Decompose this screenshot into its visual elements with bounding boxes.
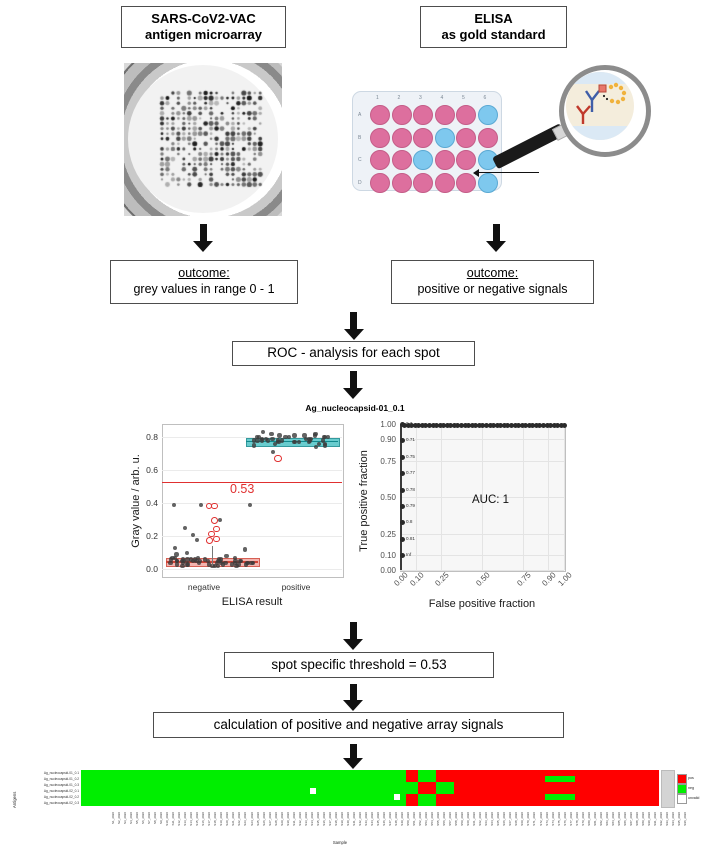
scatter-ytick: 0.2 bbox=[134, 531, 158, 541]
scatter-boxplot-panel: Gray value / arb. u. 0.53 0.00.20.40.60.… bbox=[118, 416, 350, 618]
outcome-box-elisa-text: positive or negative signals bbox=[417, 282, 567, 298]
heatmap-column-label: S59_2020 bbox=[460, 812, 464, 838]
heatmap-row-label: Ag_nucleocapsid-02_0.3 bbox=[24, 801, 79, 805]
scatter-point bbox=[223, 561, 227, 565]
heatmap-column-label: S68_2020 bbox=[514, 812, 518, 838]
roc-ytick: 0.00 bbox=[370, 566, 396, 575]
heatmap-column-label: S62_2020 bbox=[478, 812, 482, 838]
heatmap-column-label: S56_2020 bbox=[442, 812, 446, 838]
elisa-well-C5[interactable] bbox=[456, 150, 476, 170]
magnifier-pointer-head bbox=[473, 169, 479, 177]
heatmap-column-label: S76_2020 bbox=[563, 812, 567, 838]
heatmap-column-label: S77_2020 bbox=[569, 812, 573, 838]
roc-cutoff-label: Inf bbox=[406, 552, 411, 557]
heatmap-column-label: S4_2020 bbox=[129, 812, 133, 838]
heatmap-column-label: S40_2020 bbox=[346, 812, 350, 838]
roc-gridline-v bbox=[564, 424, 565, 570]
roc-cutoff-label: 0.79 bbox=[406, 503, 415, 508]
scatter-ytick: 0.4 bbox=[134, 498, 158, 508]
scatter-point bbox=[195, 538, 199, 542]
heatmap-column-label: S84_2020 bbox=[611, 812, 615, 838]
scatter-point bbox=[313, 433, 317, 437]
elisa-well-A2[interactable] bbox=[392, 105, 412, 125]
roc-cutoff-label: 0.77 bbox=[406, 470, 415, 475]
legend-swatch-neg bbox=[677, 784, 687, 794]
heatmap-column-label: S23_2020 bbox=[243, 812, 247, 838]
scatter-point bbox=[270, 437, 274, 441]
heatmap-column-label: S9_2020 bbox=[159, 812, 163, 838]
calculation-box-text: calculation of positive and negative arr… bbox=[214, 717, 504, 734]
legend-swatch-unvalid bbox=[677, 794, 687, 804]
scatter-point bbox=[283, 435, 287, 439]
elisa-well-C2[interactable] bbox=[392, 150, 412, 170]
heatmap-column-label: S45_2020 bbox=[376, 812, 380, 838]
heatmap-column-label: S69_2020 bbox=[520, 812, 524, 838]
title-box-microarray-line1: SARS-CoV2-VAC bbox=[151, 11, 256, 27]
elisa-col-label: 6 bbox=[484, 95, 487, 101]
heatmap-ylabel: Antigens bbox=[12, 758, 17, 808]
heatmap-column-label: S49_2020 bbox=[400, 812, 404, 838]
scatter-point bbox=[173, 546, 177, 550]
roc-curve-vertical bbox=[400, 424, 402, 570]
heatmap-column-label: S8_2020 bbox=[153, 812, 157, 838]
heatmap-column-label: S20_2020 bbox=[225, 812, 229, 838]
scatter-ytick: 0.0 bbox=[134, 564, 158, 574]
roc-analysis-box-text: ROC - analysis for each spot bbox=[267, 345, 440, 362]
roc-cutoff-label: 0.71 bbox=[406, 437, 415, 442]
heatmap-column-label: S72_2020 bbox=[539, 812, 543, 838]
heatmap-column-label: S42_2020 bbox=[358, 812, 362, 838]
heatmap-column-label: S88_2020 bbox=[635, 812, 639, 838]
heatmap-column-label: S5_2020 bbox=[135, 812, 139, 838]
elisa-well-B3[interactable] bbox=[413, 128, 433, 148]
legend-label-pos: pos bbox=[688, 776, 694, 780]
heatmap-column-label: S37_2020 bbox=[328, 812, 332, 838]
heatmap-column-label: S44_2020 bbox=[370, 812, 374, 838]
scatter-gridline bbox=[162, 536, 342, 537]
elisa-well-C1[interactable] bbox=[370, 150, 390, 170]
elisa-well-D6[interactable] bbox=[478, 173, 498, 193]
roc-gridline-h bbox=[400, 570, 564, 571]
scatter-point bbox=[243, 547, 247, 551]
scatter-point bbox=[218, 518, 222, 522]
heatmap-column-label: S53_2020 bbox=[424, 812, 428, 838]
heatmap-column-label: S75_2020 bbox=[557, 812, 561, 838]
heatmap-column-label: S85_2020 bbox=[617, 812, 621, 838]
elisa-well-A4[interactable] bbox=[435, 105, 455, 125]
roc-ylabel: True positive fraction bbox=[358, 426, 370, 576]
heatmap-column-label: S79_2020 bbox=[581, 812, 585, 838]
heatmap-scrollbar[interactable] bbox=[661, 770, 675, 808]
heatmap-column-label: S92_2020 bbox=[659, 812, 663, 838]
scatter-point bbox=[185, 562, 189, 566]
scatter-point bbox=[269, 432, 273, 436]
heatmap-column-label: S80_2020 bbox=[587, 812, 591, 838]
roc-xtick: 0.75 bbox=[515, 570, 532, 587]
heatmap-column-label: S21_2020 bbox=[231, 812, 235, 838]
elisa-row-label: B bbox=[358, 135, 361, 141]
roc-cutoff-label: 0.3 bbox=[406, 421, 412, 426]
heatmap-column-label: S6_2020 bbox=[141, 812, 145, 838]
roc-ytick: 0.90 bbox=[370, 435, 396, 444]
heatmap-xlabel: Sample bbox=[300, 840, 380, 845]
roc-cutoff-point bbox=[400, 438, 405, 443]
scatter-point bbox=[183, 526, 187, 530]
heatmap-column-label: S70_2020 bbox=[526, 812, 530, 838]
roc-cutoff-point bbox=[400, 471, 405, 476]
heatmap-column-label: S51_2020 bbox=[412, 812, 416, 838]
heatmap-column-label: S38_2020 bbox=[334, 812, 338, 838]
heatmap-column-label: S50_2020 bbox=[406, 812, 410, 838]
heatmap-column-label: S65_2020 bbox=[496, 812, 500, 838]
heatmap-row-label: Ag_nucleocapsid-01_0.2 bbox=[24, 777, 79, 781]
heatmap-column-label: S3_2020 bbox=[123, 812, 127, 838]
heatmap-column-label: S31_2020 bbox=[292, 812, 296, 838]
heatmap-column-label: S26_2020 bbox=[262, 812, 266, 838]
heatmap-column-label: S89_2020 bbox=[641, 812, 645, 838]
scatter-ytick: 0.8 bbox=[134, 432, 158, 442]
roc-analysis-box: ROC - analysis for each spot bbox=[232, 341, 475, 366]
heatmap-column-label: S73_2020 bbox=[545, 812, 549, 838]
scatter-point bbox=[203, 557, 207, 561]
elisa-well-D2[interactable] bbox=[392, 173, 412, 193]
heatmap-column-label: S41_2020 bbox=[352, 812, 356, 838]
scatter-point bbox=[274, 455, 281, 462]
scatter-point bbox=[323, 443, 327, 447]
elisa-well-B1[interactable] bbox=[370, 128, 390, 148]
heatmap-column-label: S58_2020 bbox=[454, 812, 458, 838]
heatmap-column-label: S60_2020 bbox=[466, 812, 470, 838]
elisa-col-label: 3 bbox=[419, 95, 422, 101]
heatmap-column-label: S25_2020 bbox=[256, 812, 260, 838]
elisa-illustration: 123456ABCD bbox=[347, 63, 637, 218]
roc-gridline-h bbox=[400, 534, 564, 535]
heatmap-row-label: Ag_nucleocapsid-01_0.3 bbox=[24, 783, 79, 787]
scatter-point bbox=[255, 438, 259, 442]
legend-label-unvalid: unvalid bbox=[688, 796, 699, 800]
outcome-box-microarray-heading: outcome: bbox=[178, 266, 229, 282]
heatmap-column-label: S48_2020 bbox=[394, 812, 398, 838]
heatmap-column-label: S66_2020 bbox=[502, 812, 506, 838]
heatmap-column-label: S95_2020 bbox=[677, 812, 681, 838]
elisa-well-A5[interactable] bbox=[456, 105, 476, 125]
arrow-roc-to-plots bbox=[343, 371, 363, 399]
roc-curve-panel: True positive fraction AUC: 1 0.000.100.… bbox=[352, 416, 582, 618]
heatmap-column-label: S2_2020 bbox=[117, 812, 121, 838]
scatter-point bbox=[191, 559, 195, 563]
scatter-xtick-positive: positive bbox=[266, 582, 326, 592]
roc-cutoff-label: 0.78 bbox=[406, 487, 415, 492]
scatter-gridline bbox=[162, 470, 342, 471]
heatmap-column-label: S28_2020 bbox=[274, 812, 278, 838]
heatmap-column-label: S52_2020 bbox=[418, 812, 422, 838]
outcome-box-microarray-text: grey values in range 0 - 1 bbox=[133, 282, 274, 298]
roc-ytick: 0.10 bbox=[370, 551, 396, 560]
heatmap-column-label: S19_2020 bbox=[219, 812, 223, 838]
scatter-point bbox=[304, 437, 308, 441]
title-box-elisa-line2: as gold standard bbox=[441, 27, 545, 43]
scatter-point bbox=[261, 430, 265, 434]
roc-auc-annotation: AUC: 1 bbox=[472, 494, 509, 506]
scatter-point bbox=[280, 438, 284, 442]
threshold-box: spot specific threshold = 0.53 bbox=[224, 652, 494, 678]
title-box-elisa: ELISA as gold standard bbox=[420, 6, 567, 48]
heatmap-column-label: S46_2020 bbox=[382, 812, 386, 838]
elisa-well-D3[interactable] bbox=[413, 173, 433, 193]
antibody-icon bbox=[566, 72, 634, 140]
elisa-well-C4[interactable] bbox=[435, 150, 455, 170]
heatmap-column-label: S30_2020 bbox=[286, 812, 290, 838]
scatter-point bbox=[207, 562, 211, 566]
heatmap-column-label: S29_2020 bbox=[280, 812, 284, 838]
heatmap-column-label: S34_2020 bbox=[310, 812, 314, 838]
magnifier-lens bbox=[566, 72, 634, 140]
elisa-col-label: 1 bbox=[376, 95, 379, 101]
scatter-point bbox=[185, 551, 189, 555]
heatmap-column-label: S24_2020 bbox=[250, 812, 254, 838]
heatmap-column-label: S67_2020 bbox=[508, 812, 512, 838]
scatter-gridline bbox=[162, 503, 342, 504]
scatter-point bbox=[213, 536, 220, 543]
roc-cutoff-point bbox=[400, 422, 405, 427]
heatmap-column-label: S96_2020 bbox=[683, 812, 687, 838]
heatmap-column-label: S15_2020 bbox=[195, 812, 199, 838]
scatter-point bbox=[248, 503, 252, 507]
arrow-elisa-to-outcome bbox=[486, 224, 506, 252]
title-box-microarray-line2: antigen microarray bbox=[145, 27, 262, 43]
roc-cutoff-point bbox=[400, 537, 405, 542]
outcome-box-elisa: outcome: positive or negative signals bbox=[391, 260, 594, 304]
heatmap-column-label: S13_2020 bbox=[183, 812, 187, 838]
roc-ytick: 0.25 bbox=[370, 530, 396, 539]
heatmap-column-label: S36_2020 bbox=[322, 812, 326, 838]
heatmap-column-label: S61_2020 bbox=[472, 812, 476, 838]
scatter-point bbox=[277, 433, 281, 437]
heatmap-column-label: S64_2020 bbox=[490, 812, 494, 838]
elisa-col-label: 2 bbox=[398, 95, 401, 101]
elisa-well-C3[interactable] bbox=[413, 150, 433, 170]
scatter-threshold-label: 0.53 bbox=[230, 482, 254, 496]
boxplot-whisker bbox=[212, 546, 213, 566]
scatter-ytick: 0.6 bbox=[134, 465, 158, 475]
scatter-point bbox=[224, 554, 228, 558]
heatmap-column-label: S57_2020 bbox=[448, 812, 452, 838]
roc-xtick: 0.25 bbox=[433, 570, 450, 587]
heatmap-column-label: S93_2020 bbox=[665, 812, 669, 838]
heatmap-column-label: S12_2020 bbox=[177, 812, 181, 838]
roc-point bbox=[562, 423, 567, 428]
title-box-microarray: SARS-CoV2-VAC antigen microarray bbox=[121, 6, 286, 48]
roc-xtick: 0.50 bbox=[474, 570, 491, 587]
heatmap-column-label: S17_2020 bbox=[207, 812, 211, 838]
heatmap-column-label: S32_2020 bbox=[298, 812, 302, 838]
heatmap-cell bbox=[653, 800, 659, 806]
heatmap-column-label: S82_2020 bbox=[599, 812, 603, 838]
scatter-point bbox=[271, 450, 275, 454]
heatmap-column-label: S33_2020 bbox=[304, 812, 308, 838]
scatter-point bbox=[211, 503, 218, 510]
heatmap-column-label: S39_2020 bbox=[340, 812, 344, 838]
roc-xtick: 0.90 bbox=[540, 570, 557, 587]
heatmap-grid bbox=[81, 770, 659, 806]
plot-title: Ag_nucleocapsid-01_0.1 bbox=[255, 403, 455, 413]
roc-xtick: 0.10 bbox=[409, 570, 426, 587]
scatter-point bbox=[172, 503, 176, 507]
heatmap-column-label: S35_2020 bbox=[316, 812, 320, 838]
scatter-point bbox=[191, 533, 195, 537]
arrow-plots-to-threshold bbox=[343, 622, 363, 650]
elisa-row-label: D bbox=[358, 180, 362, 186]
roc-cutoff-label: 0.8 bbox=[406, 519, 412, 524]
roc-gridline-h bbox=[400, 461, 564, 462]
heatmap-column-label: S94_2020 bbox=[671, 812, 675, 838]
elisa-well-B2[interactable] bbox=[392, 128, 412, 148]
heatmap-column-label: S86_2020 bbox=[623, 812, 627, 838]
calculation-box: calculation of positive and negative arr… bbox=[153, 712, 564, 738]
scatter-point bbox=[314, 445, 318, 449]
heatmap-column-label: S90_2020 bbox=[647, 812, 651, 838]
heatmap-column-label: S71_2020 bbox=[532, 812, 536, 838]
heatmap-panel: Antigens Ag_nucleocapsid-01_0.1Ag_nucleo… bbox=[0, 766, 709, 853]
scatter-point bbox=[211, 517, 218, 524]
elisa-row-label: C bbox=[358, 157, 362, 163]
elisa-well-A6[interactable] bbox=[478, 105, 498, 125]
arrow-threshold-to-calculation bbox=[343, 684, 363, 711]
threshold-box-text: spot specific threshold = 0.53 bbox=[271, 657, 446, 674]
roc-gridline-h bbox=[400, 555, 564, 556]
heatmap-column-label: S11_2020 bbox=[171, 812, 175, 838]
elisa-col-label: 5 bbox=[462, 95, 465, 101]
elisa-col-label: 4 bbox=[441, 95, 444, 101]
roc-ytick: 1.00 bbox=[370, 420, 396, 429]
roc-cutoff-point bbox=[400, 553, 405, 558]
heatmap-column-label: S47_2020 bbox=[388, 812, 392, 838]
elisa-well-D4[interactable] bbox=[435, 173, 455, 193]
heatmap-column-label: S43_2020 bbox=[364, 812, 368, 838]
scatter-point bbox=[252, 443, 256, 447]
heatmap-column-label: S81_2020 bbox=[593, 812, 597, 838]
roc-xtick: 1.00 bbox=[556, 570, 573, 587]
scatter-point bbox=[181, 557, 185, 561]
heatmap-column-label: S18_2020 bbox=[213, 812, 217, 838]
heatmap-column-label: S78_2020 bbox=[575, 812, 579, 838]
heatmap-column-label: S83_2020 bbox=[605, 812, 609, 838]
elisa-well-A1[interactable] bbox=[370, 105, 390, 125]
scatter-point bbox=[199, 503, 203, 507]
elisa-row-label: A bbox=[358, 112, 361, 118]
legend-label-neg: neg bbox=[688, 786, 694, 790]
roc-cutoff-point bbox=[400, 455, 405, 460]
heatmap-column-label: S7_2020 bbox=[147, 812, 151, 838]
roc-xlabel: False positive fraction bbox=[392, 598, 572, 610]
heatmap-column-label: S10_2020 bbox=[165, 812, 169, 838]
roc-ytick: 0.75 bbox=[370, 457, 396, 466]
outcome-box-elisa-heading: outcome: bbox=[467, 266, 518, 282]
scatter-point bbox=[236, 562, 240, 566]
heatmap-column-label: S27_2020 bbox=[268, 812, 272, 838]
magnifier-pointer-line bbox=[477, 172, 539, 173]
heatmap-column-label: S1_2020 bbox=[111, 812, 115, 838]
outcome-box-microarray: outcome: grey values in range 0 - 1 bbox=[110, 260, 298, 304]
scatter-xtick-negative: negative bbox=[174, 582, 234, 592]
scatter-point bbox=[292, 433, 296, 437]
heatmap-column-label: S16_2020 bbox=[201, 812, 205, 838]
title-box-elisa-line1: ELISA bbox=[474, 11, 512, 27]
roc-cutoff-point bbox=[400, 504, 405, 509]
elisa-well-B4[interactable] bbox=[435, 128, 455, 148]
scatter-point bbox=[321, 438, 325, 442]
elisa-well-A3[interactable] bbox=[413, 105, 433, 125]
roc-cutoff-point bbox=[400, 488, 405, 493]
elisa-well-D1[interactable] bbox=[370, 173, 390, 193]
roc-cutoff-label: 0.75 bbox=[406, 454, 415, 459]
scatter-point bbox=[206, 537, 213, 544]
heatmap-column-label: S74_2020 bbox=[551, 812, 555, 838]
scatter-gridline bbox=[162, 569, 342, 570]
roc-gridline-h bbox=[400, 439, 564, 440]
scatter-point bbox=[251, 561, 255, 565]
scatter-point bbox=[233, 556, 237, 560]
scatter-point bbox=[273, 442, 277, 446]
scatter-point bbox=[185, 557, 189, 561]
heatmap-column-label: S22_2020 bbox=[237, 812, 241, 838]
legend-swatch-pos bbox=[677, 774, 687, 784]
scatter-point bbox=[293, 440, 297, 444]
heatmap-row-label: Ag_nucleocapsid-02_0.2 bbox=[24, 795, 79, 799]
arrow-microarray-to-outcome bbox=[193, 224, 213, 252]
elisa-well-B6[interactable] bbox=[478, 128, 498, 148]
heatmap-row-label: Ag_nucleocapsid-02_0.1 bbox=[24, 789, 79, 793]
scatter-xlabel: ELISA result bbox=[162, 596, 342, 608]
heatmap-column-label: S87_2020 bbox=[629, 812, 633, 838]
heatmap-column-label: S55_2020 bbox=[436, 812, 440, 838]
scatter-data-layer bbox=[162, 424, 342, 576]
heatmap-column-label: S63_2020 bbox=[484, 812, 488, 838]
heatmap-column-label: S54_2020 bbox=[430, 812, 434, 838]
scatter-point bbox=[174, 552, 178, 556]
heatmap-column-label: S91_2020 bbox=[653, 812, 657, 838]
roc-ytick: 0.50 bbox=[370, 493, 396, 502]
roc-cutoff-label: 0.81 bbox=[406, 536, 415, 541]
heatmap-row-label: Ag_nucleocapsid-01_0.1 bbox=[24, 771, 79, 775]
elisa-well-B5[interactable] bbox=[456, 128, 476, 148]
microarray-image bbox=[124, 63, 282, 216]
heatmap-column-label: S14_2020 bbox=[189, 812, 193, 838]
